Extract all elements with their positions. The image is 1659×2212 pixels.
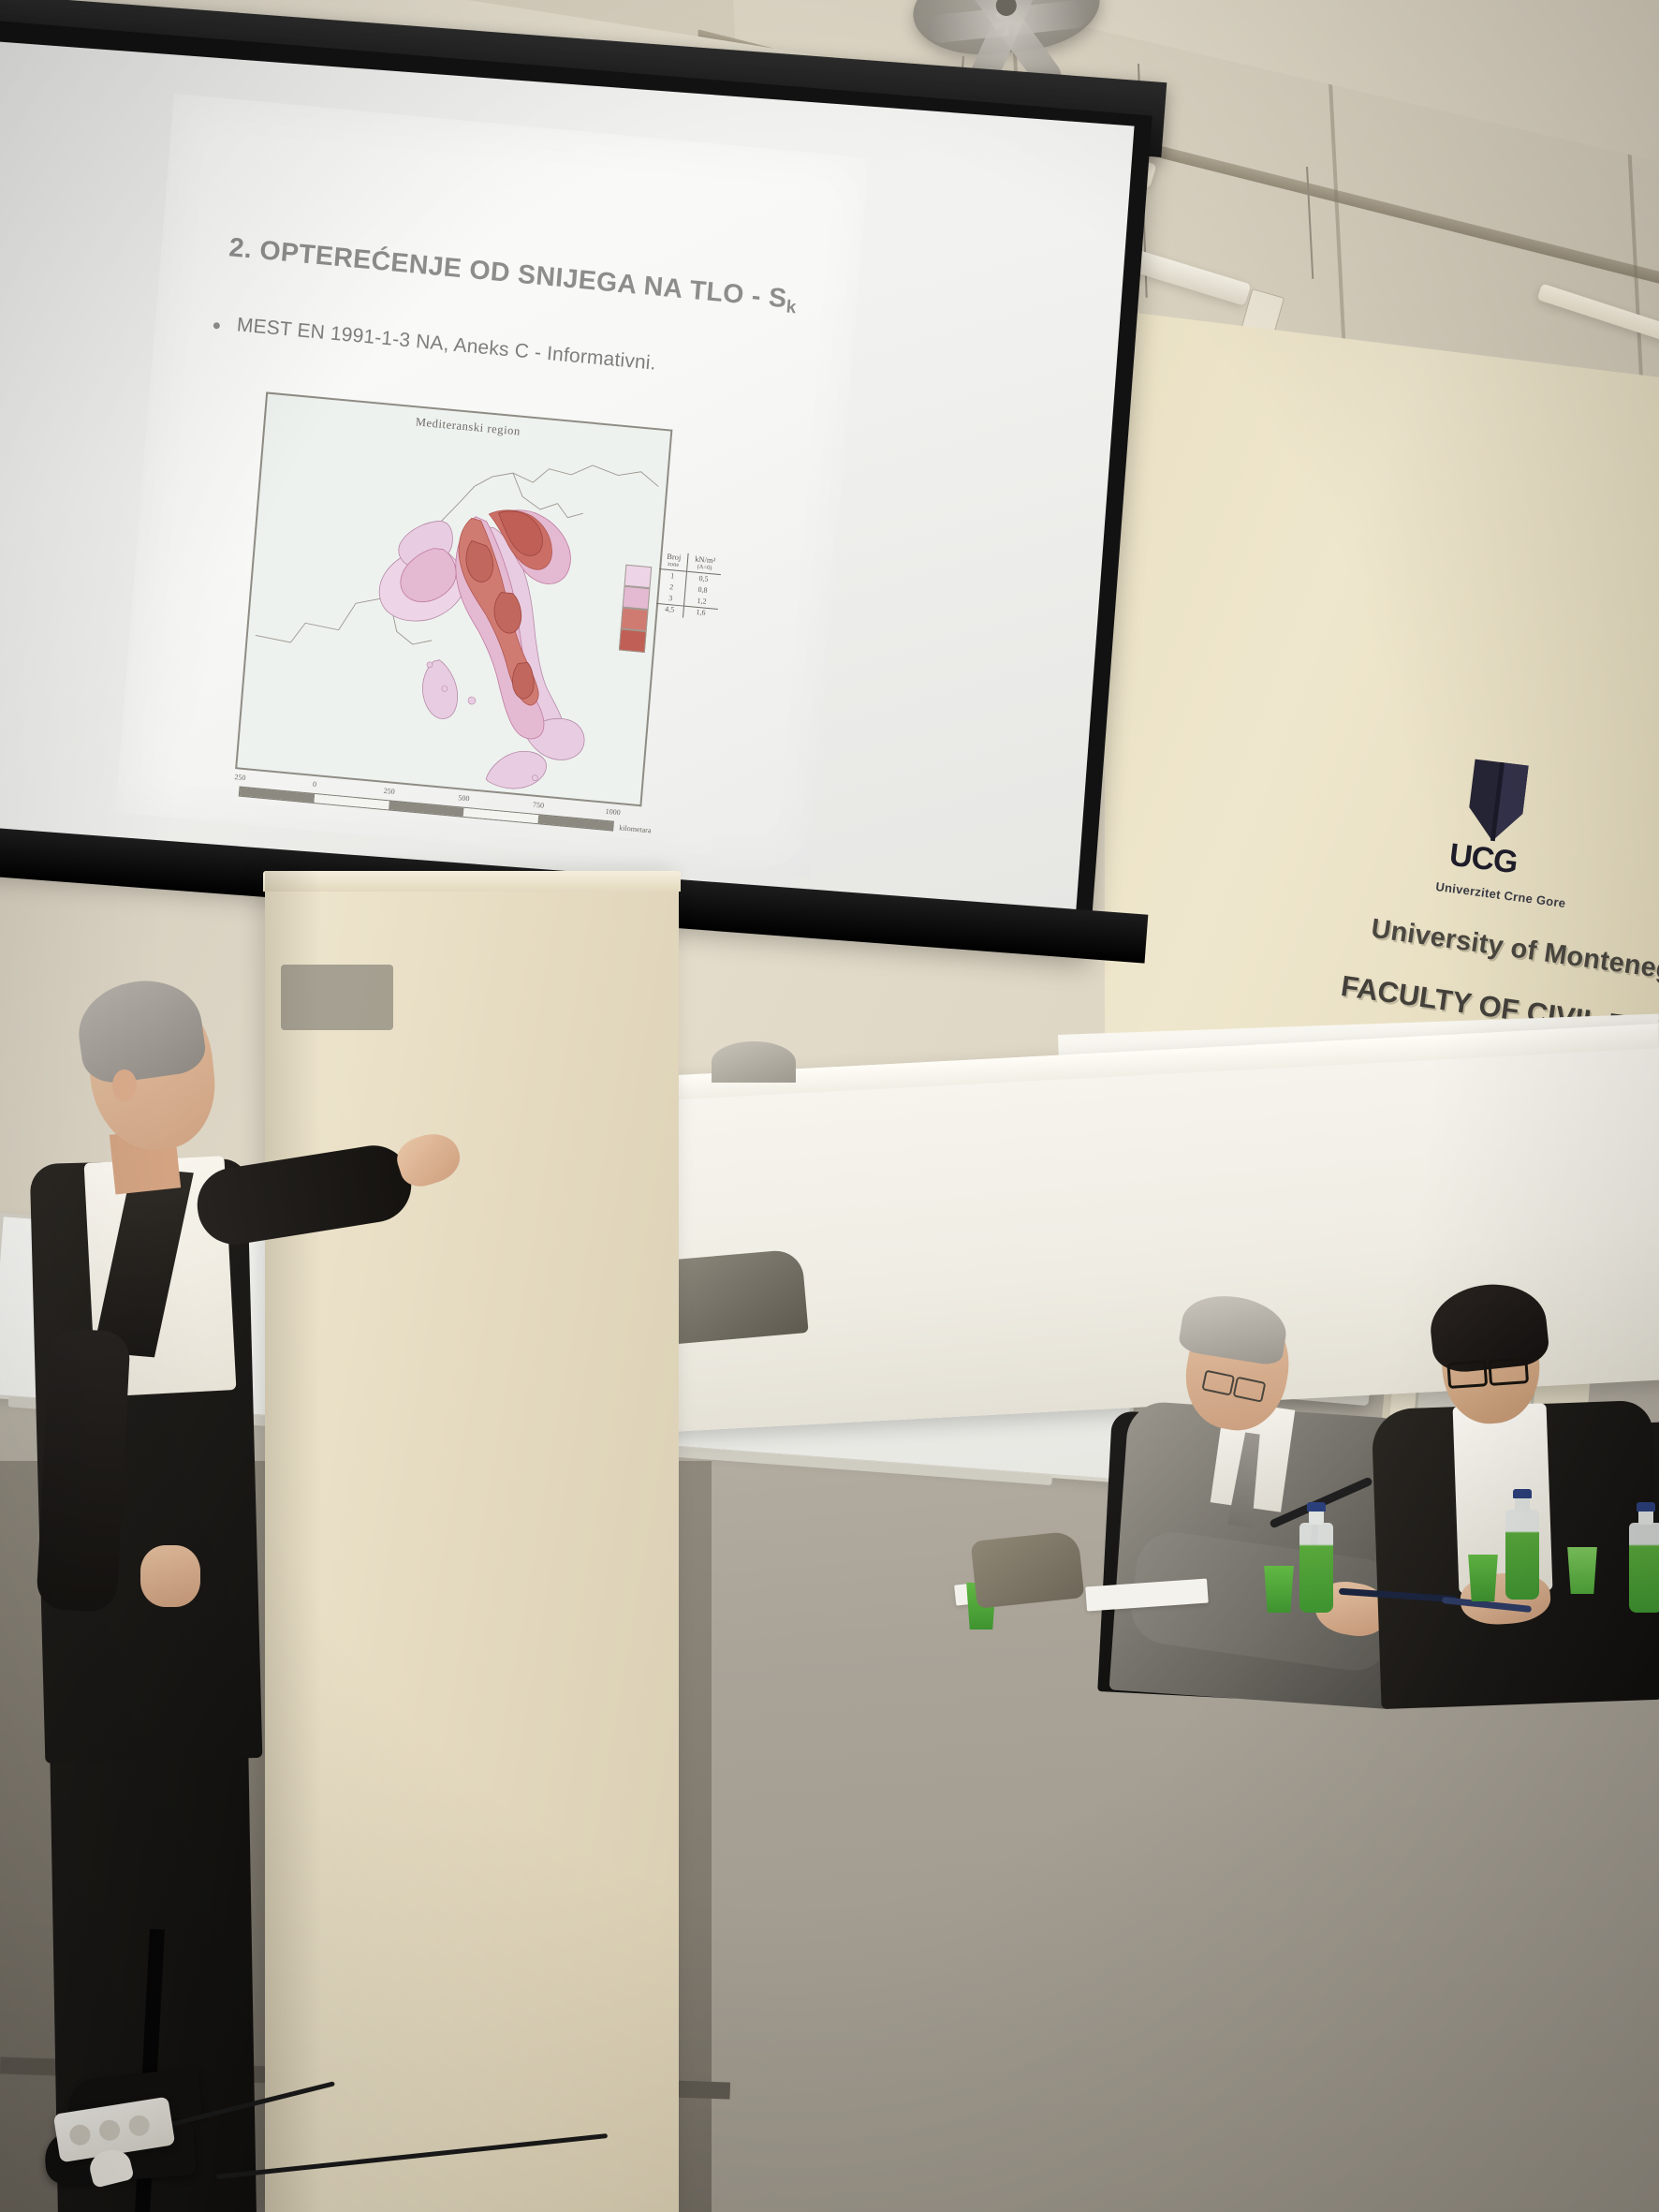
legend-swatch-zone-45: [619, 628, 647, 653]
bag-on-table: [971, 1530, 1085, 1609]
lectern-top-surface: [263, 871, 681, 892]
map-legend: Broj zone kN/m² (A=0) 1 0,5: [633, 549, 782, 671]
slide-bullet-item: MEST EN 1991-1-3 NA, Aneks C - Informati…: [213, 312, 811, 390]
water-bottle[interactable]: [1505, 1510, 1539, 1600]
presenter-lower-arm: [36, 1328, 131, 1613]
legend-col1-header: Broj zone: [659, 551, 688, 572]
water-bottle[interactable]: [1299, 1523, 1333, 1613]
ucg-shield-logo: [1456, 755, 1539, 849]
scale-label: 250: [234, 773, 246, 782]
legend-swatch-zone-2: [623, 586, 651, 611]
legend-col1-subheader-text: zone: [666, 561, 681, 569]
slide-title: 2. OPTEREĆENJE OD SNIJEGA NA TLO - Sk: [228, 232, 799, 318]
legend-swatch-zone-1: [624, 565, 653, 589]
snow-load-zone-map: Mediteranski region: [235, 391, 672, 806]
legend-value: 1,6: [683, 606, 718, 621]
scale-unit-label: kilometara: [619, 823, 652, 834]
legend-table: Broj zone kN/m² (A=0) 1 0,5: [655, 551, 722, 621]
drinking-cup[interactable]: [1565, 1547, 1599, 1594]
scale-label: 250: [383, 787, 395, 796]
presenter-resting-hand: [140, 1545, 200, 1607]
lectern-equipment: [281, 965, 393, 1030]
projected-slide: 2. OPTEREĆENJE OD SNIJEGA NA TLO - Sk ME…: [115, 94, 869, 877]
eyeglasses-icon: [1446, 1357, 1530, 1383]
legend-swatch-zone-3: [621, 608, 649, 632]
slide-title-text: 2. OPTEREĆENJE OD SNIJEGA NA TLO - S: [228, 232, 787, 314]
lectern-shadow: [265, 871, 321, 2212]
slide-title-subscript: k: [785, 297, 798, 317]
legend-col2-subheader-text: (A=0): [694, 564, 714, 572]
legend-zone: 4,5: [655, 603, 684, 617]
lecture-hall-photo: UCG Univerzitet Crne Gore University of …: [0, 0, 1659, 2212]
partially-visible-person-head: [712, 1041, 796, 1083]
presenter-ear: [112, 1069, 137, 1101]
water-bottle[interactable]: [1629, 1523, 1659, 1613]
scale-label: 500: [458, 793, 470, 803]
scale-label: 750: [533, 801, 545, 810]
drinking-cup[interactable]: [1466, 1555, 1500, 1601]
scale-label: 1000: [605, 807, 621, 817]
scale-label: 0: [313, 780, 317, 789]
map-graphic: [237, 394, 670, 805]
bullet-dot-icon: [213, 322, 221, 330]
drinking-cup[interactable]: [1262, 1566, 1296, 1613]
slide-bullet-text: MEST EN 1991-1-3 NA, Aneks C - Informati…: [236, 314, 657, 375]
lectern: [265, 871, 679, 2212]
